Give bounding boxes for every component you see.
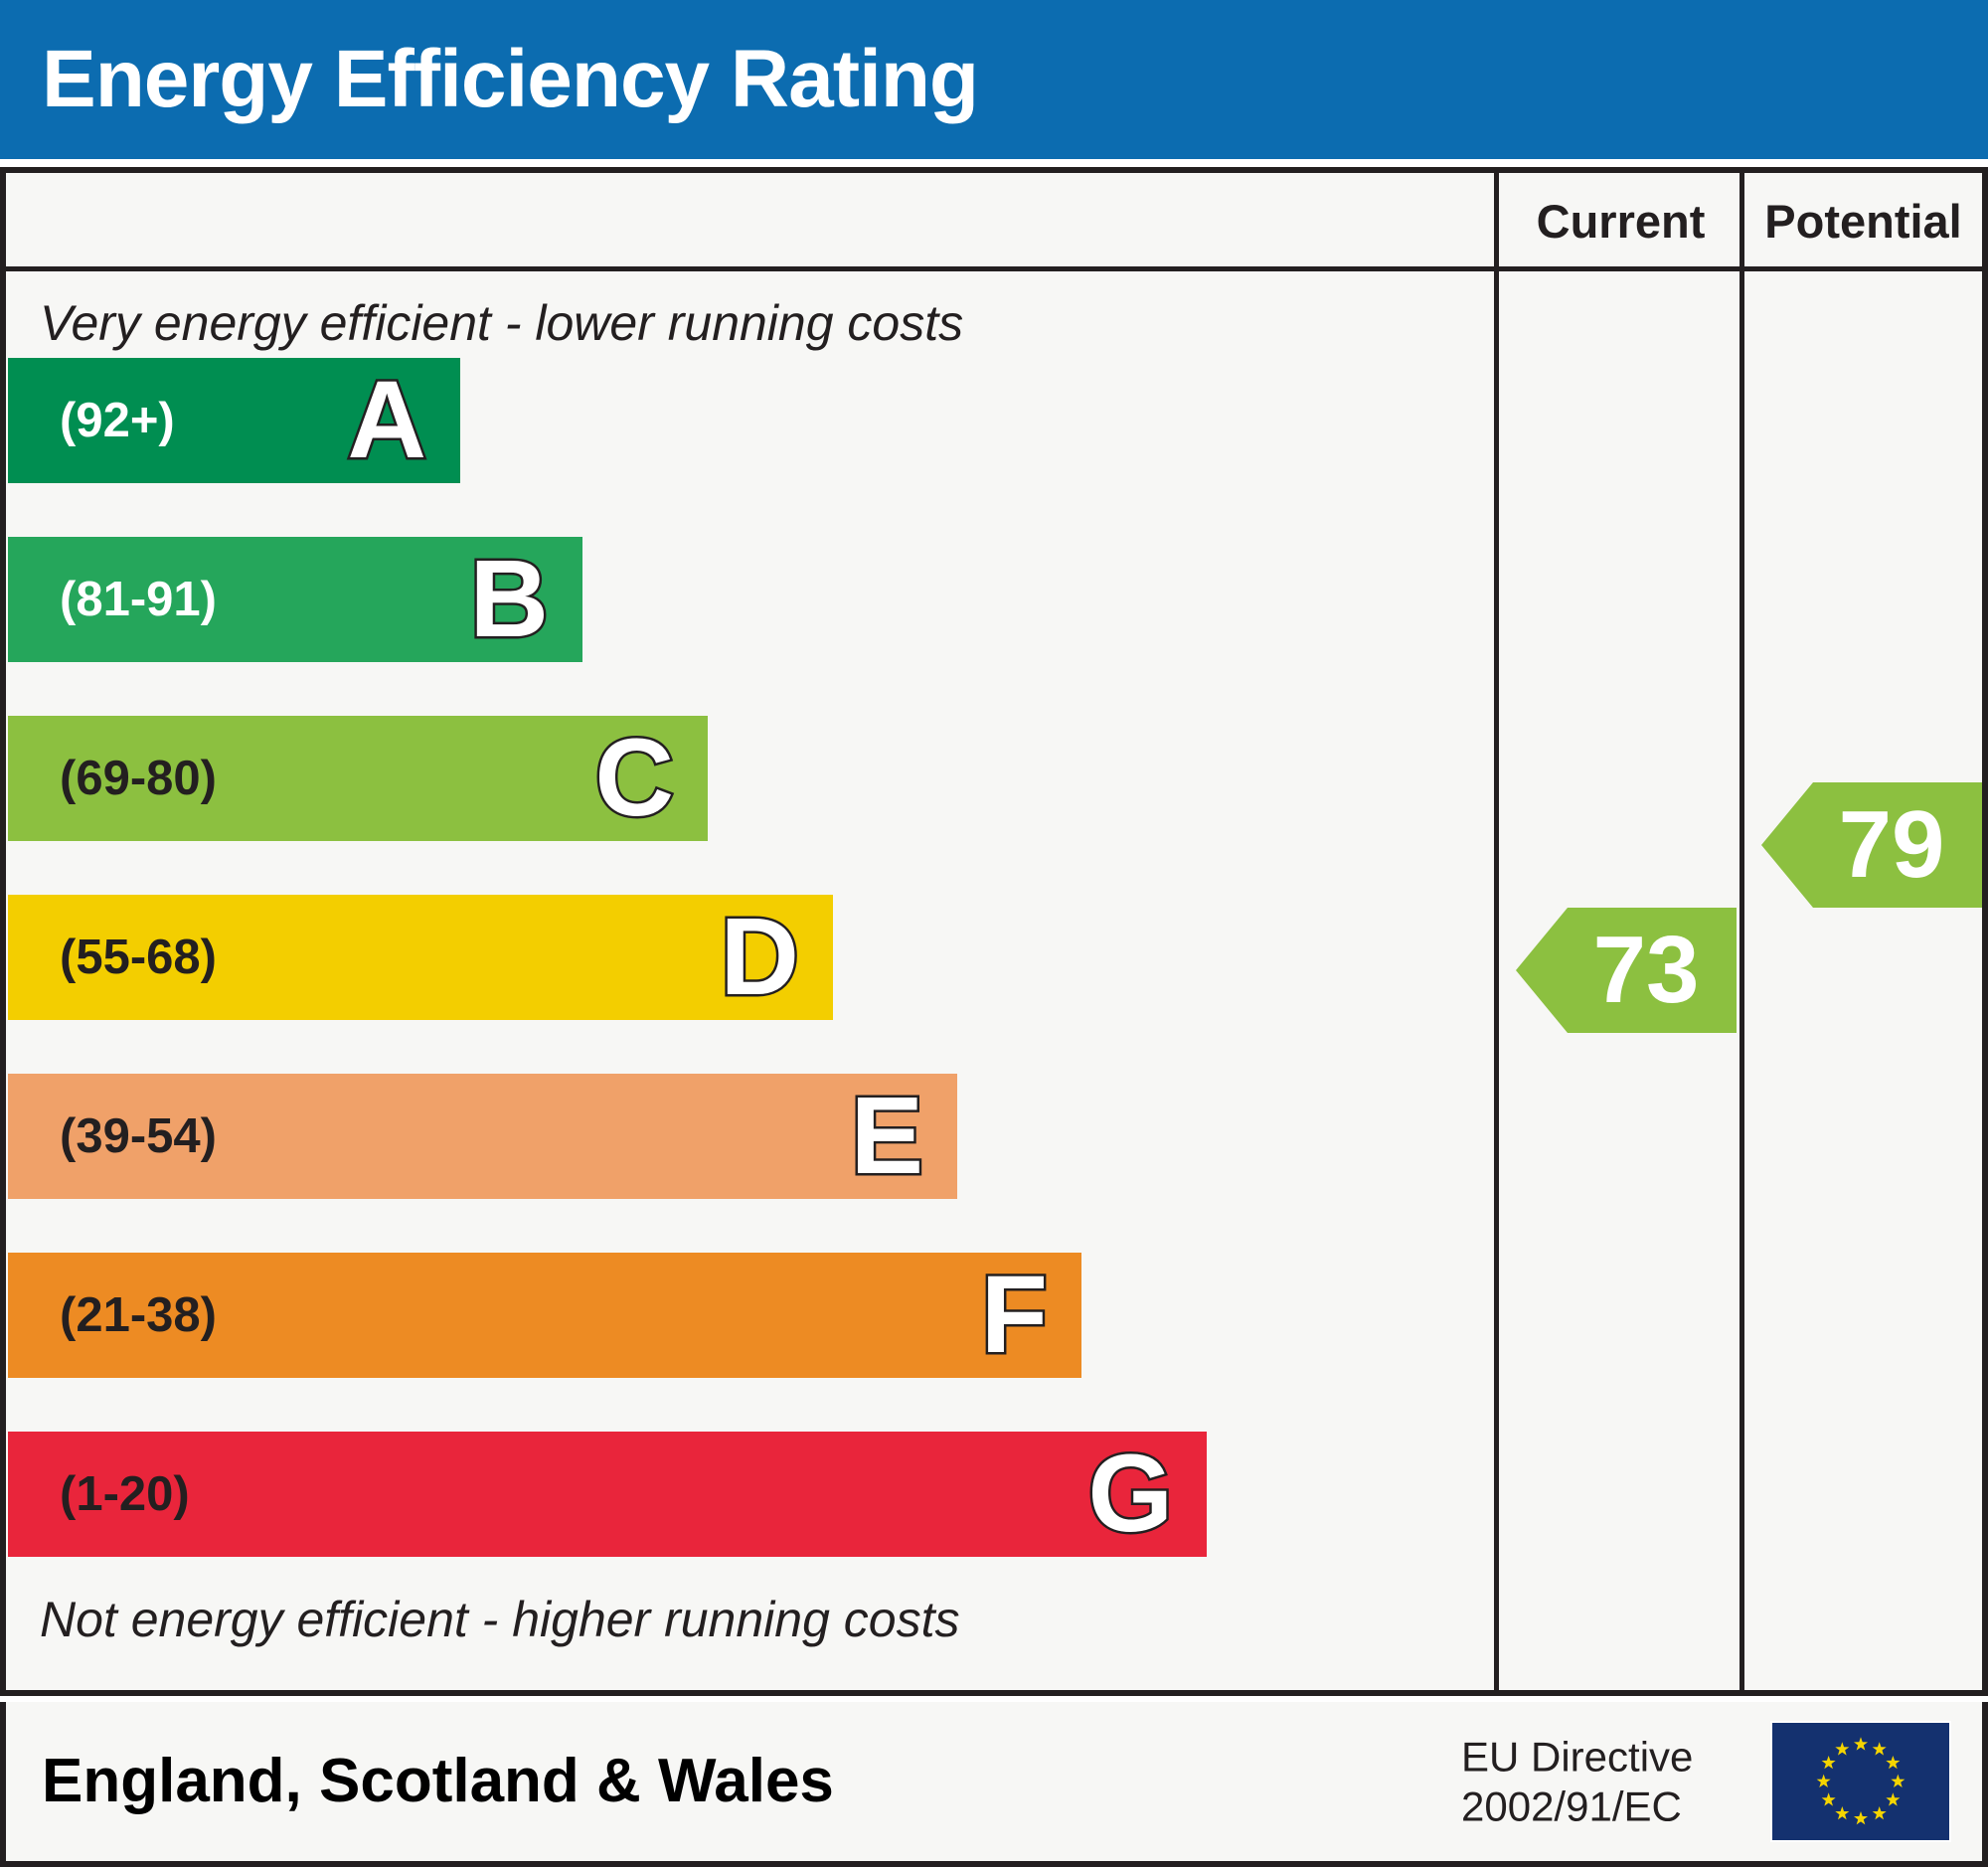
rating-band-b: (81-91)B [8,537,582,662]
column-header-current: Current [1499,173,1742,268]
page-title: Energy Efficiency Rating [42,39,978,120]
column-header-potential: Potential [1744,173,1982,268]
rating-band-c: (69-80)C [8,716,708,841]
rating-bands: (92+)A(81-91)B(69-80)C(55-68)D(39-54)E(2… [6,173,1494,1690]
band-letter-f: F [981,1261,1048,1370]
energy-efficiency-rating-chart: Energy Efficiency Rating Current Potenti… [0,0,1988,1867]
chart-frame: Current Potential Very energy efficient … [0,167,1988,1696]
band-letter-e: E [851,1082,923,1191]
chart-footer: England, Scotland & Wales EU Directive 2… [0,1702,1988,1867]
eu-directive-label: EU Directive 2002/91/EC [1461,1732,1693,1830]
rating-band-f: (21-38)F [8,1253,1081,1378]
column-divider-left [1494,173,1499,1690]
eu-directive-line2: 2002/91/EC [1461,1782,1693,1831]
band-range-f: (21-38) [60,1291,217,1340]
current-rating-badge: 73 [1516,908,1737,1033]
column-divider-right [1739,173,1744,1690]
band-range-b: (81-91) [60,576,217,624]
band-range-e: (39-54) [60,1112,217,1161]
band-letter-g: G [1087,1440,1173,1549]
band-range-c: (69-80) [60,755,217,803]
current-rating-value: 73 [1593,923,1700,1018]
band-letter-d: D [721,903,799,1012]
eu-directive-line1: EU Directive [1461,1732,1693,1782]
rating-band-e: (39-54)E [8,1074,957,1199]
eu-flag-icon [1770,1721,1951,1842]
band-range-a: (92+) [60,397,175,445]
potential-rating-badge: 79 [1761,782,1982,908]
rating-band-g: (1-20)G [8,1432,1207,1557]
rating-band-d: (55-68)D [8,895,833,1020]
band-range-d: (55-68) [60,933,217,982]
band-letter-c: C [595,724,674,833]
band-range-g: (1-20) [60,1470,190,1519]
band-letter-a: A [348,366,426,475]
chart-title-bar: Energy Efficiency Rating [0,0,1988,159]
region-label: England, Scotland & Wales [42,1751,834,1812]
band-letter-b: B [470,545,549,654]
potential-rating-value: 79 [1839,797,1945,893]
rating-band-a: (92+)A [8,358,460,483]
